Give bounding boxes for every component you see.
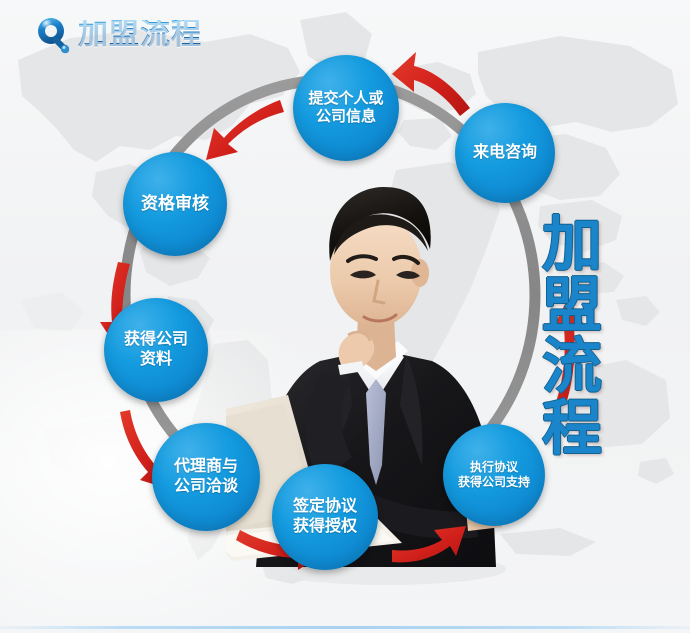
- flow-node-5[interactable]: 代理商与 公司洽谈: [152, 423, 260, 531]
- vertical-title-char-2: 盟: [534, 275, 610, 336]
- flow-node-4[interactable]: 获得公司 资料: [104, 298, 208, 402]
- flow-node-6-label: 签定协议 获得授权: [293, 497, 357, 536]
- flow-node-6[interactable]: 签定协议 获得授权: [272, 464, 378, 570]
- vertical-title-char-3: 流: [534, 336, 610, 397]
- flow-node-4-label: 获得公司 资料: [124, 330, 188, 369]
- flow-node-2[interactable]: 提交个人或 公司信息: [293, 55, 399, 161]
- flow-node-5-label: 代理商与 公司洽谈: [174, 457, 238, 496]
- vertical-title-char-1: 加: [534, 214, 610, 275]
- flow-node-2-label: 提交个人或 公司信息: [308, 90, 383, 127]
- bottom-padding: [0, 629, 690, 633]
- flow-node-7[interactable]: 执行协议 获得公司支持: [443, 424, 545, 526]
- flow-node-1[interactable]: 来电咨询: [455, 103, 555, 203]
- bottom-divider: [0, 626, 690, 629]
- infographic-canvas: 加盟流程 加 盟 流 程 来电咨询 提交个人或 公司信息 资格审核 获得公司 资…: [0, 0, 690, 633]
- flow-node-7-label: 执行协议 获得公司支持: [458, 460, 530, 489]
- page-header: 加盟流程: [36, 16, 202, 54]
- flow-node-3[interactable]: 资格审核: [123, 152, 227, 256]
- vertical-brand-title: 加 盟 流 程: [534, 214, 610, 459]
- vertical-title-char-4: 程: [534, 398, 610, 459]
- flow-node-3-label: 资格审核: [141, 194, 209, 215]
- flow-node-1-label: 来电咨询: [473, 143, 537, 163]
- page-title: 加盟流程: [78, 20, 202, 50]
- q-search-icon: [36, 16, 70, 54]
